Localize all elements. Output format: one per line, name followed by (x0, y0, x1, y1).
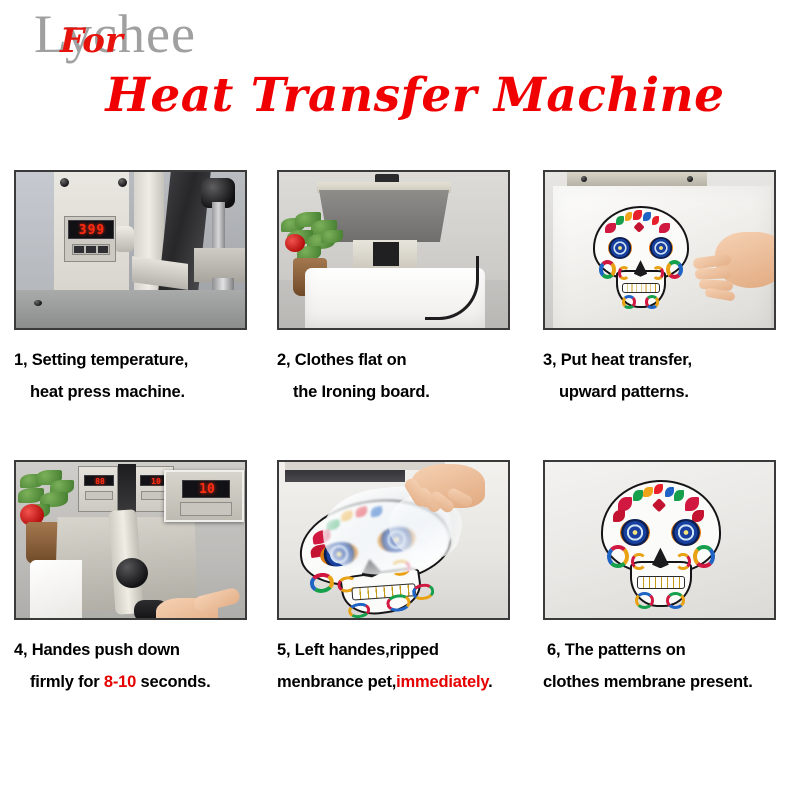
step-caption-4-line2: firmly for 8-10 seconds. (14, 666, 247, 698)
step-caption-3-line1: 3, Put heat transfer, (543, 344, 776, 376)
step-caption-4: 4, Handes push down firmly for 8-10 seco… (14, 634, 247, 698)
step-photo-6 (543, 460, 776, 620)
display-zoom-inset: 10 (164, 470, 244, 522)
controller-box-left: 88 (78, 466, 118, 512)
brand-logo: Lychee For (34, 4, 354, 66)
step-4-line2-post: seconds. (136, 673, 210, 691)
step-caption-6-line2: clothes membrane present. (543, 666, 776, 698)
step-photo-5 (277, 460, 510, 620)
step-photo-4: 88 10 (14, 460, 247, 620)
steps-row-top: 399 1, Setting temperature, heat press m… (0, 170, 800, 460)
step-caption-6: 6, The patterns on clothes membrane pres… (543, 634, 776, 698)
cloth-edge (30, 560, 82, 620)
step-caption-5-line2: menbrance pet,immediately. (277, 666, 510, 698)
sugar-skull-transfer (593, 206, 689, 310)
decor-pot-2 (26, 522, 60, 564)
led-display-panel: 399 (68, 220, 114, 239)
step-caption-1-line2: heat press machine. (14, 376, 247, 408)
step-caption-4-line1: 4, Handes push down (14, 634, 247, 666)
step-card-4: 88 10 (14, 460, 247, 698)
step-caption-5: 5, Left handes,ripped menbrance pet,imme… (277, 634, 510, 698)
step-card-1: 399 1, Setting temperature, heat press m… (14, 170, 247, 408)
temperature-controller: 399 (64, 216, 116, 262)
step-5-immediately-highlight: immediately (396, 673, 488, 691)
step-caption-1: 1, Setting temperature, heat press machi… (14, 344, 247, 408)
page-root: Lychee For Heat Transfer Machine (0, 0, 800, 800)
step-caption-6-line1: 6, The patterns on (543, 634, 776, 666)
steps-row-bottom: 88 10 (0, 460, 800, 750)
sugar-skull-finished (601, 480, 721, 610)
step-caption-1-line1: 1, Setting temperature, (14, 344, 247, 376)
step-photo-2 (277, 170, 510, 330)
steps-grid: 399 1, Setting temperature, heat press m… (0, 170, 800, 750)
page-title: Heat Transfer Machine (0, 68, 800, 123)
small-display-a: 88 (85, 476, 115, 487)
step-photo-1: 399 (14, 170, 247, 330)
temperature-display-value: 399 (69, 223, 115, 238)
step-caption-2-line1: 2, Clothes flat on (277, 344, 510, 376)
step-caption-3: 3, Put heat transfer, upward patterns. (543, 344, 776, 408)
step-card-6: 6, The patterns on clothes membrane pres… (543, 460, 776, 698)
step-4-line2-pre: firmly for (30, 673, 104, 691)
step-card-3: 3, Put heat transfer, upward patterns. (543, 170, 776, 408)
controller-buttons[interactable] (72, 244, 110, 255)
skull-teeth (622, 283, 660, 293)
step-5-line2-post: . (488, 673, 492, 691)
step-photo-3 (543, 170, 776, 330)
step-4-duration-highlight: 8-10 (104, 673, 136, 691)
step-caption-3-line2: upward patterns. (543, 376, 776, 408)
skull-right-eye (649, 237, 673, 259)
step-card-2: 2, Clothes flat on the Ironing board. (277, 170, 510, 408)
controller-keys-left[interactable] (85, 491, 113, 500)
timer-display-value: 10 (183, 481, 231, 499)
step-caption-2-line2: the Ironing board. (277, 376, 510, 408)
decor-rose (285, 234, 305, 252)
step-caption-2: 2, Clothes flat on the Ironing board. (277, 344, 510, 408)
step-5-line2-pre: menbrance pet, (277, 673, 396, 691)
brand-overlay-for: For (60, 22, 123, 60)
step-caption-5-line1: 5, Left handes,ripped (277, 634, 510, 666)
step-card-5: 5, Left handes,ripped menbrance pet,imme… (277, 460, 510, 698)
